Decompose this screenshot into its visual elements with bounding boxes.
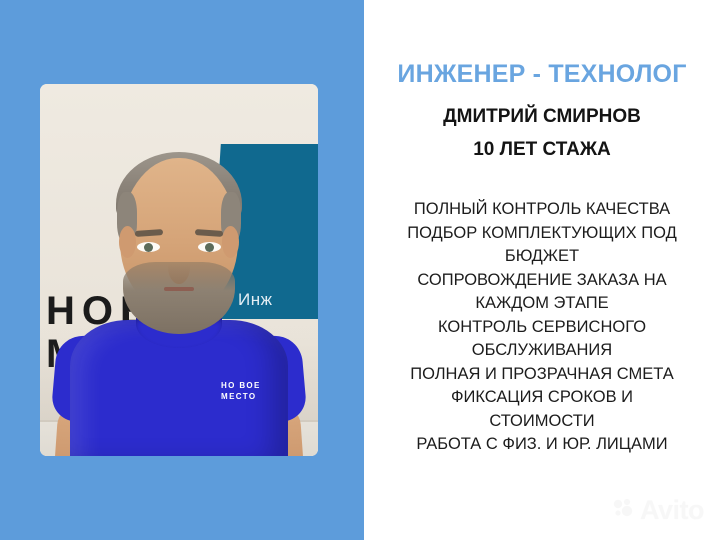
service-line: ОБСЛУЖИВАНИЯ bbox=[374, 339, 710, 363]
avito-watermark: Avito bbox=[612, 495, 704, 526]
service-line: РАБОТА С ФИЗ. И ЮР. ЛИЦАМИ bbox=[374, 433, 710, 457]
service-line: БЮДЖЕТ bbox=[374, 245, 710, 269]
right-eye bbox=[198, 242, 221, 252]
person-figure: НО ВОЕ МЕСТО bbox=[40, 84, 318, 456]
service-line: ПОДБОР КОМПЛЕКТУЮЩИХ ПОД bbox=[374, 222, 710, 246]
avito-dots-icon bbox=[612, 496, 636, 525]
experience-years: 10 ЛЕТ СТАЖА bbox=[364, 139, 720, 161]
service-line: СОПРОВОЖДЕНИЕ ЗАКАЗА НА bbox=[374, 269, 710, 293]
portrait-photo: Инж НОВ М bbox=[40, 84, 318, 456]
person-name: ДМИТРИЙ СМИРНОВ bbox=[364, 106, 720, 128]
service-line: ПОЛНАЯ И ПРОЗРАЧНАЯ СМЕТА bbox=[374, 363, 710, 387]
service-line: СТОИМОСТИ bbox=[374, 410, 710, 434]
avito-watermark-text: Avito bbox=[640, 495, 704, 526]
service-line: КОНТРОЛЬ СЕРВИСНОГО bbox=[374, 316, 710, 340]
left-ear bbox=[119, 226, 136, 258]
service-line: ФИКСАЦИЯ СРОКОВ И bbox=[374, 386, 710, 410]
service-line: КАЖДОМ ЭТАПЕ bbox=[374, 292, 710, 316]
photo-panel: Инж НОВ М bbox=[0, 0, 364, 540]
right-ear bbox=[222, 226, 239, 258]
nose bbox=[168, 250, 190, 284]
tshirt-logo-line-1: НО ВОЕ bbox=[221, 380, 261, 391]
job-title-heading: ИНЖЕНЕР - ТЕХНОЛОГ bbox=[364, 60, 720, 89]
left-eye bbox=[137, 242, 160, 252]
promo-card: Инж НОВ М bbox=[0, 0, 720, 540]
services-list: ПОЛНЫЙ КОНТРОЛЬ КАЧЕСТВА ПОДБОР КОМПЛЕКТ… bbox=[374, 198, 710, 457]
service-line: ПОЛНЫЙ КОНТРОЛЬ КАЧЕСТВА bbox=[374, 198, 710, 222]
tshirt-logo: НО ВОЕ МЕСТО bbox=[221, 380, 261, 402]
tshirt-logo-line-2: МЕСТО bbox=[221, 391, 261, 402]
mouth bbox=[164, 287, 194, 291]
info-panel: ИНЖЕНЕР - ТЕХНОЛОГ ДМИТРИЙ СМИРНОВ 10 ЛЕ… bbox=[364, 0, 720, 540]
